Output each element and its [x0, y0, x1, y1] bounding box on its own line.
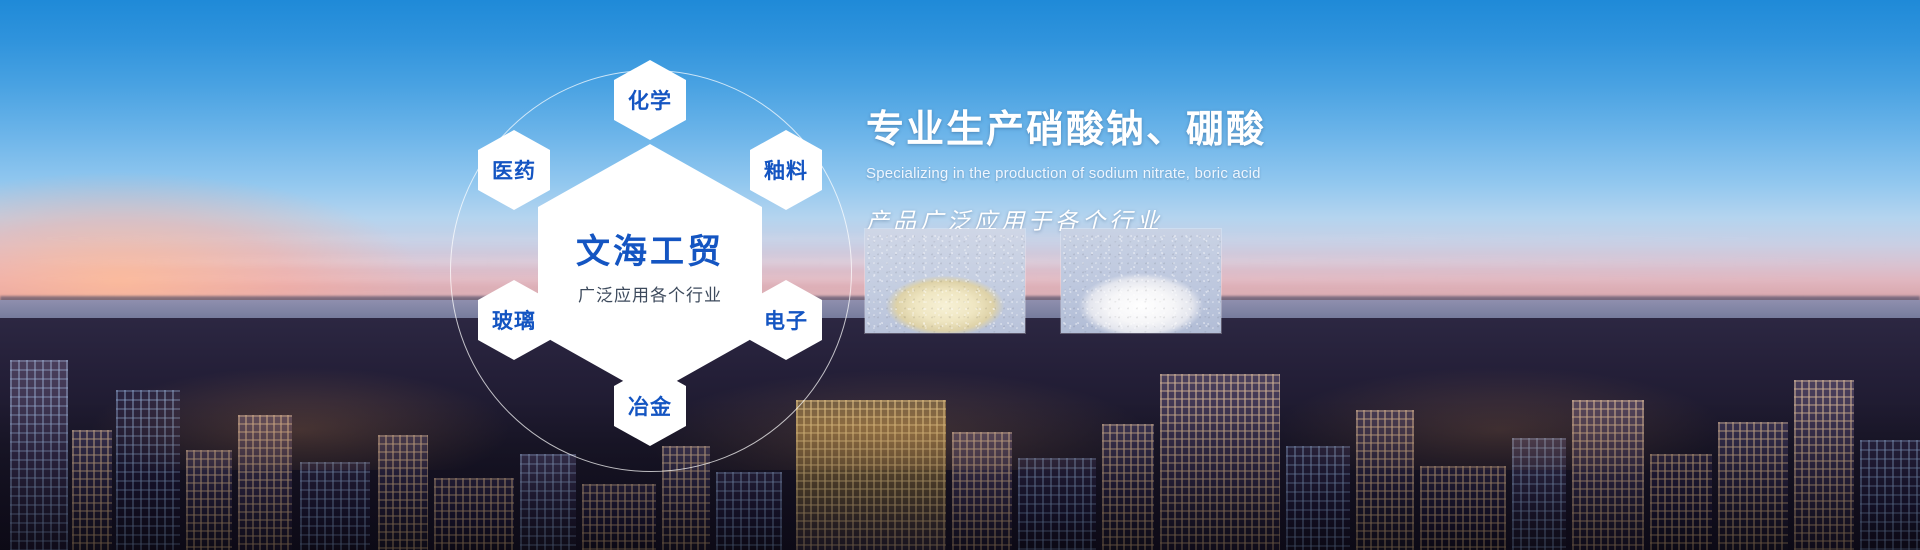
- hexagon-label: 釉料: [764, 155, 808, 185]
- product-photo-boric-acid[interactable]: [1060, 228, 1222, 334]
- hexagon-label: 电子: [764, 305, 808, 335]
- headline: 专业生产硝酸钠、硼酸: [866, 98, 1566, 153]
- product-photos: [864, 228, 1222, 334]
- product-photo-sodium-nitrate[interactable]: [864, 228, 1026, 334]
- company-name: 文海工贸: [576, 234, 724, 271]
- promo-banner: 文海工贸 广泛应用各个行业 化学 釉料 电子 冶金 玻璃 医药 专业生产硝酸钠、…: [0, 0, 1920, 550]
- banner-copy: 专业生产硝酸钠、硼酸 Specializing in the productio…: [866, 98, 1566, 236]
- powder-grain-texture: [865, 229, 1025, 333]
- hexagon-label: 玻璃: [492, 305, 536, 335]
- industry-hex-diagram: 文海工贸 广泛应用各个行业 化学 釉料 电子 冶金 玻璃 医药: [420, 18, 940, 538]
- hexagon-label: 医药: [492, 155, 536, 185]
- bottom-vignette: [0, 400, 1920, 550]
- powder-grain-texture: [1061, 229, 1221, 333]
- company-subtitle: 广泛应用各个行业: [578, 281, 722, 306]
- english-subtitle: Specializing in the production of sodium…: [866, 165, 1566, 182]
- hexagon-label: 冶金: [628, 391, 672, 421]
- hexagon-label: 化学: [628, 85, 672, 115]
